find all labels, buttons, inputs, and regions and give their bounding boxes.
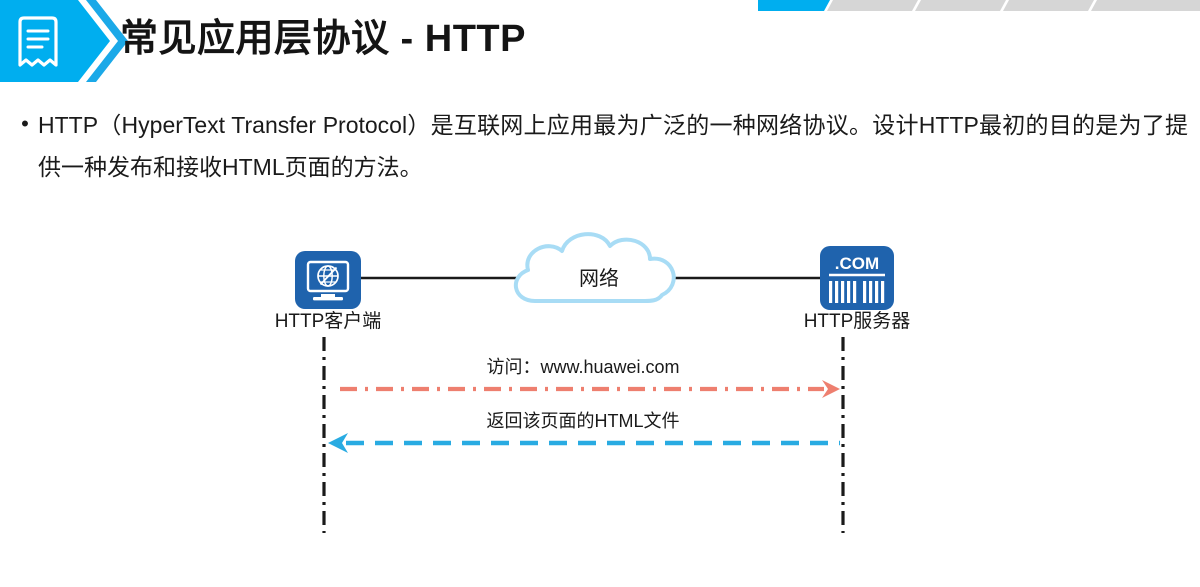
cloud-label: 网络 xyxy=(579,267,619,290)
progress-segment-inactive-3 xyxy=(1003,0,1094,11)
http-sequence-diagram: 网络 HTTP客户端 .COM xyxy=(0,215,1200,555)
section-progress-strip xyxy=(758,0,1200,11)
client-label: HTTP客户端 xyxy=(275,310,382,332)
server-node: .COM xyxy=(820,246,894,310)
response-flow-label: 返回该页面的HTML文件 xyxy=(487,411,680,431)
progress-segment-inactive-2 xyxy=(915,0,1006,11)
client-node xyxy=(295,251,361,309)
content-bullet-item: • HTTP（HyperText Transfer Protocol）是互联网上… xyxy=(12,104,1188,188)
page-title: 常见应用层协议 - HTTP xyxy=(120,8,526,70)
server-label: HTTP服务器 xyxy=(804,310,911,332)
bullet-paragraph: HTTP（HyperText Transfer Protocol）是互联网上应用… xyxy=(38,104,1188,188)
server-badge-text: .COM xyxy=(835,254,879,273)
response-flow-arrow xyxy=(328,433,840,453)
bullet-marker: • xyxy=(12,104,38,144)
progress-segment-inactive-4 xyxy=(1091,0,1200,11)
slide-header: 常见应用层协议 - HTTP xyxy=(0,0,640,82)
progress-segment-inactive-1 xyxy=(827,0,918,11)
progress-segment-active xyxy=(758,0,830,11)
request-flow-arrow xyxy=(340,380,840,398)
request-flow-label: 访问：www.huawei.com xyxy=(486,357,679,377)
document-list-icon xyxy=(14,16,62,68)
